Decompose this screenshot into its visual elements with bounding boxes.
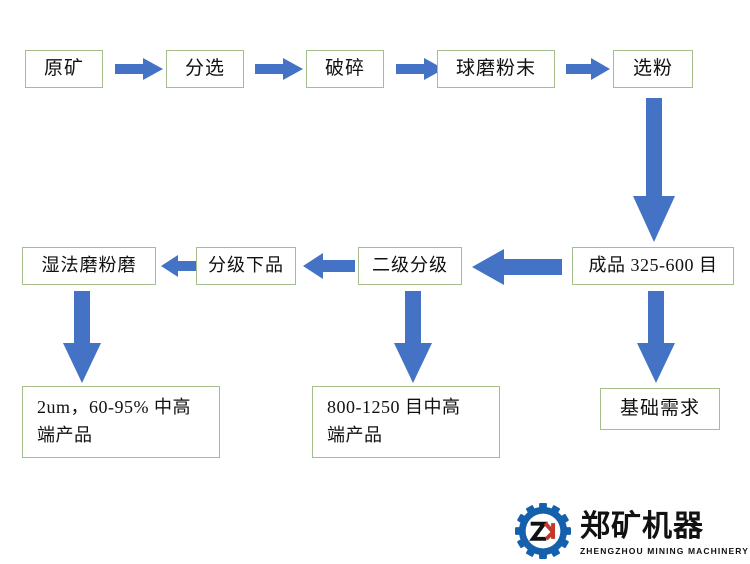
arrow-ballmill-to-powderselect (566, 58, 610, 80)
arrow-finished-to-basic (637, 291, 675, 383)
node-powder-selecting: 选粉 (613, 50, 693, 88)
arrow-powderselect-to-finished (633, 98, 675, 242)
arrow-sorting-to-crushing (255, 58, 303, 80)
node-ultrafine-product: 2um，60-95% 中高 端产品 (22, 386, 220, 458)
logo-company-name-en: ZHENGZHOU MINING MACHINERY (580, 547, 749, 556)
arrow-wetgrinding-to-ultrafine (63, 291, 101, 383)
node-wet-grinding: 湿法磨粉磨 (22, 247, 156, 285)
node-raw-ore: 原矿 (25, 50, 103, 88)
flowchart-canvas: 原矿 分选 破碎 球磨粉末 选粉 湿法磨粉磨 分级下品 (0, 0, 750, 562)
arrow-secondary-to-undersize (303, 253, 355, 279)
node-crushing: 破碎 (306, 50, 384, 88)
node-classified-undersize: 分级下品 (196, 247, 296, 285)
logo-text-block: 郑矿机器 ZHENGZHOU MINING MACHINERY (580, 512, 749, 556)
logo-company-name-cn: 郑矿机器 (580, 512, 749, 542)
arrow-secondary-to-midhigh (394, 291, 432, 383)
zk-gear-icon (515, 503, 571, 564)
node-sorting: 分选 (166, 50, 244, 88)
company-logo: 郑矿机器 ZHENGZHOU MINING MACHINERY (515, 503, 749, 564)
node-finished-product-mesh: 成品 325-600 目 (572, 247, 734, 285)
arrow-raw-to-sorting (115, 58, 163, 80)
arrow-finished-to-secondary (472, 249, 562, 285)
node-midhigh-product: 800-1250 目中高 端产品 (312, 386, 500, 458)
node-basic-demand: 基础需求 (600, 388, 720, 430)
node-ball-mill-powder: 球磨粉末 (437, 50, 555, 88)
node-secondary-classifying: 二级分级 (358, 247, 462, 285)
